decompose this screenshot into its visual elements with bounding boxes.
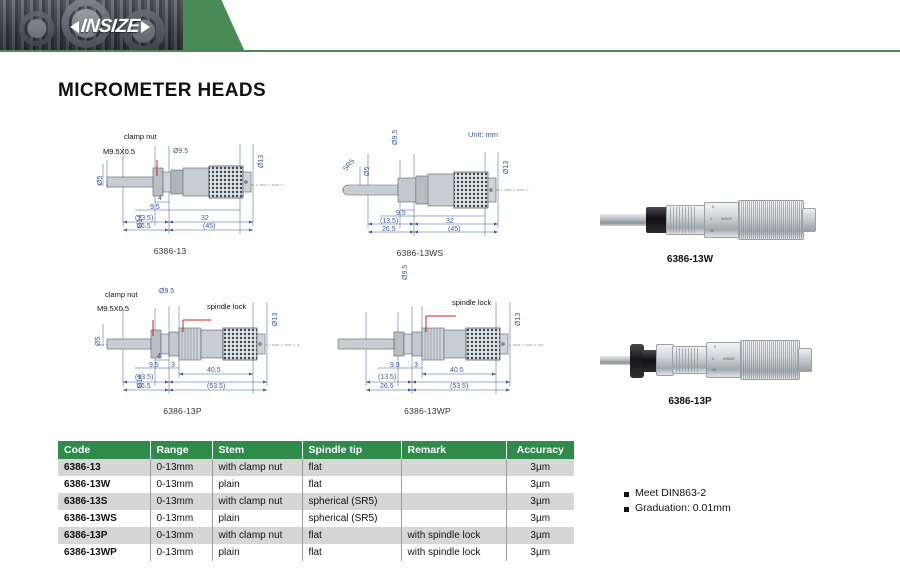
- logo-text: INSIZE: [80, 16, 141, 38]
- cell-code: 6386-13W: [58, 476, 150, 493]
- cell-spindle-tip: flat: [302, 476, 401, 493]
- cell-stem: with clamp nut: [212, 459, 302, 476]
- drawing-3-dim-405: 40.5: [207, 367, 221, 374]
- drawing-4-dim-535: (53.5): [450, 383, 468, 390]
- table-row: 6386-13WP 0-13mm plain flat with spindle…: [58, 544, 574, 561]
- drawing-4-label-spindle-lock: spindle lock: [452, 298, 491, 307]
- drawing-2-dim-265: 26.5: [382, 226, 396, 233]
- drawing-2-dim-d5: Ø5: [364, 167, 371, 176]
- drawing-3-label-thread: M9.5X0.5: [97, 304, 129, 313]
- cell-spindle-tip: flat: [302, 459, 401, 476]
- drawing-1-label-clamp-nut: clamp nut: [124, 132, 157, 141]
- cell-remark: [401, 493, 506, 510]
- column-header-remark: Remark: [401, 441, 506, 459]
- cell-stem: plain: [212, 510, 302, 527]
- cell-code: 6386-13WP: [58, 544, 150, 561]
- cell-spindle-tip: flat: [302, 544, 401, 561]
- table-row: 6386-13S 0-13mm with clamp nut spherical…: [58, 493, 574, 510]
- square-bullet-icon: [624, 492, 629, 497]
- logo-right-arrow-icon: [141, 21, 150, 33]
- table-row: 6386-13P 0-13mm with clamp nut flat with…: [58, 527, 574, 544]
- cell-accuracy: 3µm: [506, 476, 574, 493]
- specification-table: Code Range Stem Spindle tip Remark Accur…: [58, 441, 574, 561]
- table-row: 6386-13W 0-13mm plain flat 3µm: [58, 476, 574, 493]
- drawing-6386-13WP: spindle lock Ø9.5 Ø13 9.5 3 (13.5) 40.5 …: [338, 288, 553, 418]
- note-item: Graduation: 0.01mm: [624, 502, 731, 514]
- cell-range: 0-13mm: [150, 459, 212, 476]
- cell-code: 6386-13P: [58, 527, 150, 544]
- insize-logo: INSIZE: [55, 16, 165, 38]
- drawing-1-dim-d5: Ø5: [97, 176, 104, 185]
- cell-remark: with spindle lock: [401, 544, 506, 561]
- cell-spindle-tip: spherical (SR5): [302, 493, 401, 510]
- cell-range: 0-13mm: [150, 510, 212, 527]
- table-row: 6386-13 0-13mm with clamp nut flat 3µm: [58, 459, 574, 476]
- cell-code: 6386-13WS: [58, 510, 150, 527]
- cell-range: 0-13mm: [150, 476, 212, 493]
- brand-mark-2: INSIZE: [723, 357, 734, 361]
- drawing-3-dim-535: (53.5): [207, 383, 225, 390]
- product-photo-6386-13W: 5 0 45 INSIZE 6386-13W: [600, 192, 890, 272]
- drawing-3-label-clamp-nut: clamp nut: [105, 290, 138, 299]
- drawing-3-dim-265: 26.5: [137, 383, 151, 390]
- thimble-1: [738, 200, 804, 240]
- note-item: Meet DIN863-2: [624, 487, 731, 499]
- cell-range: 0-13mm: [150, 493, 212, 510]
- column-header-spindle-tip: Spindle tip: [302, 441, 401, 459]
- drawing-1-dim-4: 4: [158, 195, 162, 202]
- photo-1-caption: 6386-13W: [545, 254, 835, 265]
- note-text: Meet DIN863-2: [635, 487, 706, 499]
- micrometer-head-image-1: 5 0 45 INSIZE: [600, 192, 850, 242]
- sleeve-ribs-2: [676, 348, 700, 372]
- thimble-knurl-1: [739, 201, 803, 239]
- drawing-1-dim-d13: Ø13: [258, 155, 265, 168]
- table-header-row: Code Range Stem Spindle tip Remark Accur…: [58, 441, 574, 459]
- note-text: Graduation: 0.01mm: [635, 502, 731, 514]
- barrel-tick-bot-2: 45: [712, 368, 716, 372]
- drawing-1-dim-135: (13.5): [135, 215, 153, 222]
- end-cap-1: [802, 208, 816, 232]
- header-green-rule: [0, 50, 900, 52]
- cell-range: 0-13mm: [150, 527, 212, 544]
- drawing-4-dim-265: 26.5: [380, 383, 394, 390]
- barrel-tick-top-1: 5: [712, 205, 714, 209]
- drawing-1-dim-265: 26.5: [137, 223, 151, 230]
- brand-mark-1: INSIZE: [721, 217, 732, 221]
- page-title: MICROMETER HEADS: [58, 80, 266, 102]
- logo-left-arrow-icon: [70, 21, 79, 33]
- barrel-tick-top-2: 5: [714, 345, 716, 349]
- thimble-knurl-2: [741, 341, 799, 379]
- drawing-4-dim-d13: Ø13: [515, 313, 522, 326]
- sleeve-ribs-1: [670, 207, 696, 233]
- drawing-1-label-thread: M9.5X0.5: [103, 147, 135, 156]
- unit-note: Unit: mm: [468, 130, 498, 139]
- cell-remark: [401, 476, 506, 493]
- thimble-2: [740, 340, 800, 380]
- cell-range: 0-13mm: [150, 544, 212, 561]
- drawing-2-dim-135: (13.5): [380, 218, 398, 225]
- drawing-2-geometry: [340, 140, 540, 250]
- column-header-range: Range: [150, 441, 212, 459]
- drawing-2-dim-32: 32: [446, 218, 454, 225]
- drawing-1-caption: 6386-13: [70, 246, 270, 256]
- cell-stem: with clamp nut: [212, 493, 302, 510]
- cell-spindle-tip: flat: [302, 527, 401, 544]
- table-row: 6386-13WS 0-13mm plain spherical (SR5) 3…: [58, 510, 574, 527]
- drawing-4-dim-135: (13.5): [378, 374, 396, 381]
- drawing-2-dim-45: (45): [448, 226, 460, 233]
- drawing-3-dim-95: 9.5: [149, 362, 159, 369]
- drawing-4-dim-95: 9.5: [390, 362, 400, 369]
- drawing-3-dim-3: 3: [171, 362, 175, 369]
- micrometer-head-image-2: 5 0 45 INSIZE: [600, 330, 850, 385]
- drawing-6386-13WS: SR5 Ø5 Ø9.5 Ø13 9.5 (13.5) 32 26.5 (45) …: [340, 140, 540, 260]
- end-cap-2: [798, 348, 812, 372]
- cell-code: 6386-13S: [58, 493, 150, 510]
- drawing-1-dim-95: 9.5: [150, 204, 160, 211]
- drawing-4-geometry: [338, 288, 553, 406]
- cell-stem: plain: [212, 476, 302, 493]
- drawing-2-dim-d13: Ø13: [503, 161, 510, 174]
- barrel-tick-mid-1: 0: [710, 217, 712, 221]
- drawing-3-dim-135: (13.5): [135, 374, 153, 381]
- spindle-1: [600, 214, 648, 226]
- cell-code: 6386-13: [58, 459, 150, 476]
- cell-remark: [401, 459, 506, 476]
- drawing-6386-13: clamp nut M9.5X0.5 Ø9.5 Ø13 Ø5 Ø14 4 9.5…: [95, 130, 295, 260]
- drawing-6386-13P: clamp nut M9.5X0.5 spindle lock Ø9.5 Ø13…: [95, 288, 310, 418]
- drawing-1-dim-45: (45): [203, 223, 215, 230]
- drawing-1-dim-32: 32: [201, 215, 209, 222]
- drawing-3-caption: 6386-13P: [75, 406, 290, 416]
- barrel-tick-mid-2: 0: [712, 357, 714, 361]
- cell-accuracy: 3µm: [506, 493, 574, 510]
- drawing-2-caption: 6386-13WS: [320, 248, 520, 258]
- cell-remark: with spindle lock: [401, 527, 506, 544]
- drawing-4-dim-3: 3: [414, 362, 418, 369]
- drawing-1-dim-d95: Ø9.5: [173, 148, 188, 155]
- drawing-2-dim-95: 9.5: [396, 210, 406, 217]
- drawing-3-label-spindle-lock: spindle lock: [207, 302, 246, 311]
- cell-stem: plain: [212, 544, 302, 561]
- column-header-stem: Stem: [212, 441, 302, 459]
- cell-accuracy: 3µm: [506, 510, 574, 527]
- cell-accuracy: 3µm: [506, 459, 574, 476]
- drawing-3-dim-d5: Ø5: [95, 337, 102, 346]
- collar-1: [646, 207, 668, 233]
- barrel-tick-bot-1: 45: [710, 229, 714, 233]
- cell-spindle-tip: spherical (SR5): [302, 510, 401, 527]
- product-notes: Meet DIN863-2 Graduation: 0.01mm: [624, 487, 731, 517]
- square-bullet-icon: [624, 507, 629, 512]
- drawing-3-dim-d13: Ø13: [272, 313, 279, 326]
- drawing-3-dim-d95: Ø9.5: [159, 288, 174, 295]
- drawing-4-caption: 6386-13WP: [320, 406, 535, 416]
- page-header: INSIZE: [0, 0, 900, 52]
- column-header-accuracy: Accuracy: [506, 441, 574, 459]
- drawing-2-dim-d95: Ø9.5: [392, 130, 399, 145]
- drawing-3-dim-4: 4: [157, 353, 161, 360]
- cell-accuracy: 3µm: [506, 527, 574, 544]
- header-green-chevron: [183, 0, 245, 52]
- photo-2-caption: 6386-13P: [545, 396, 835, 407]
- drawing-4-dim-405: 40.5: [450, 367, 464, 374]
- cell-accuracy: 3µm: [506, 544, 574, 561]
- drawing-4-dim-d95: Ø9.5: [402, 265, 409, 280]
- product-photo-6386-13P: 5 0 45 INSIZE 6386-13P: [600, 330, 890, 410]
- column-header-code: Code: [58, 441, 150, 459]
- cell-remark: [401, 510, 506, 527]
- cell-stem: with clamp nut: [212, 527, 302, 544]
